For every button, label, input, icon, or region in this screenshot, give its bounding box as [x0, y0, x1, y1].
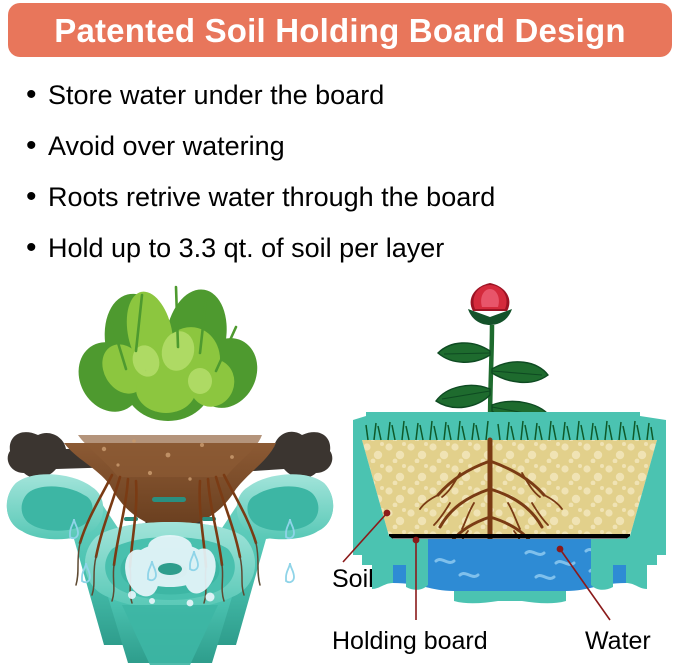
callout-label-holding-board: Holding board [332, 627, 488, 656]
callout-label-water: Water [585, 627, 651, 656]
bullet-icon: • [26, 131, 48, 161]
rose-plant-icon [436, 283, 552, 425]
bullet-icon: • [26, 80, 48, 110]
list-item: • Avoid over watering [26, 123, 666, 169]
bullet-icon: • [26, 182, 48, 212]
page-title: Patented Soil Holding Board Design [54, 14, 626, 47]
plant-foliage-icon [67, 285, 269, 423]
list-item: • Roots retrive water through the board [26, 174, 666, 220]
cross-section-diagram [340, 265, 679, 665]
illustration-area [0, 265, 679, 665]
holding-board-line [389, 534, 630, 539]
feature-list: • Store water under the board • Avoid ov… [26, 72, 666, 276]
soil-layer [362, 440, 657, 536]
list-item: • Store water under the board [26, 72, 666, 118]
callout-label-soil: Soil [332, 565, 374, 594]
rose-flower-icon [468, 283, 512, 325]
product-photo [0, 265, 340, 665]
bullet-icon: • [26, 233, 48, 263]
feature-text: Roots retrive water through the board [48, 174, 495, 220]
header-banner: Patented Soil Holding Board Design [8, 3, 672, 57]
feature-text: Store water under the board [48, 72, 384, 118]
feature-text: Avoid over watering [48, 123, 285, 169]
